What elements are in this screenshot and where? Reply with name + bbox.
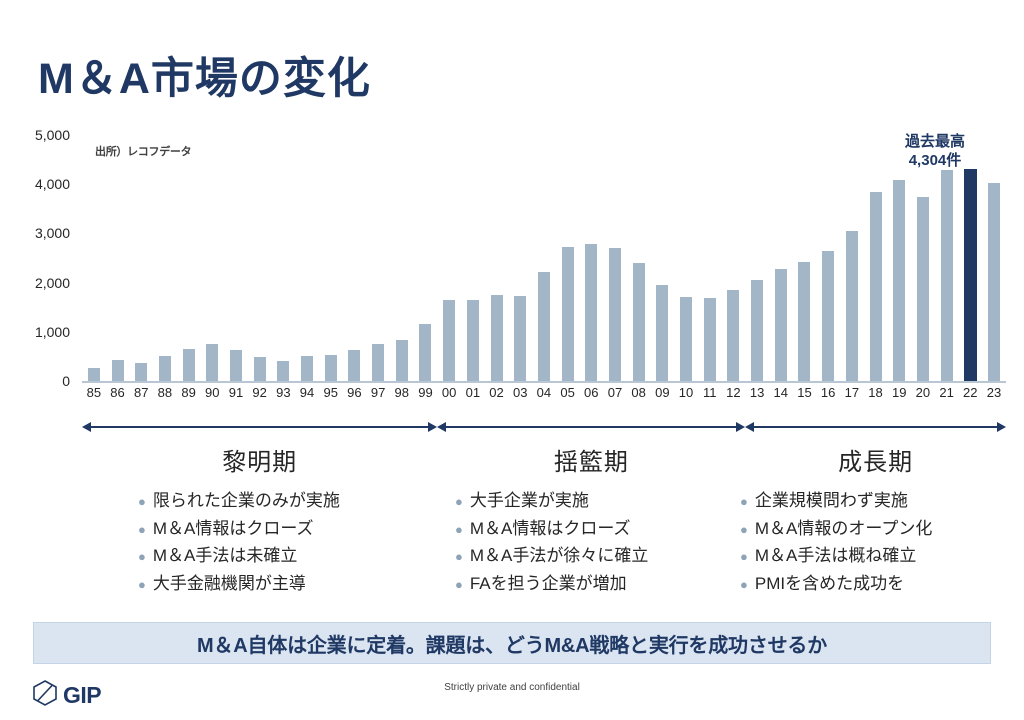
x-axis-tick: 98	[390, 385, 414, 400]
bar	[88, 368, 100, 381]
bullet-dot-icon: ●	[138, 546, 146, 567]
x-axis-tick: 96	[343, 385, 367, 400]
bar-chart: 出所）レコフデータ 5,0004,0003,0002,0001,0000 858…	[0, 135, 1024, 415]
bar-column	[864, 135, 888, 381]
x-axis-tick: 97	[366, 385, 390, 400]
bar	[893, 180, 905, 381]
x-axis-tick: 93	[272, 385, 296, 400]
bar	[751, 280, 763, 381]
bar	[680, 297, 692, 381]
bar-column	[627, 135, 651, 381]
y-axis-tick: 1,000	[0, 324, 70, 340]
list-item-label: 大手金融機関が主導	[153, 570, 306, 598]
bar-column	[177, 135, 201, 381]
list-item-label: M＆A情報はクローズ	[153, 515, 314, 543]
list-item: ●企業規模問わず実施	[740, 487, 932, 515]
bar-column	[982, 135, 1006, 381]
phase-arrow-group: 黎明期	[82, 420, 437, 478]
x-axis-tick: 23	[982, 385, 1006, 400]
x-axis-tick: 05	[556, 385, 580, 400]
y-axis-tick: 2,000	[0, 275, 70, 291]
x-axis-tick: 06	[579, 385, 603, 400]
bar	[704, 298, 716, 381]
key-message-banner: M＆A自体は企業に定着。課題は、どうM&A戦略と実行を成功させるか	[33, 622, 991, 664]
phase-arrows: 黎明期揺籃期成長期	[0, 420, 1024, 480]
phase-arrow-icon	[82, 420, 437, 434]
phase-arrow-icon	[745, 420, 1006, 434]
x-axis-tick: 92	[248, 385, 272, 400]
bar-column	[911, 135, 935, 381]
bar-column	[745, 135, 769, 381]
phase-label: 黎明期	[82, 442, 437, 477]
bar	[419, 324, 431, 382]
bar-column	[958, 135, 982, 381]
bar	[230, 350, 242, 381]
x-axis-tick: 01	[461, 385, 485, 400]
bar-column	[319, 135, 343, 381]
bar	[727, 290, 739, 381]
bar	[988, 183, 1000, 381]
bar-column	[106, 135, 130, 381]
list-item: ●M＆A手法は未確立	[138, 542, 340, 570]
x-axis-tick: 12	[722, 385, 746, 400]
x-axis-tick: 94	[295, 385, 319, 400]
phase-label: 揺籃期	[437, 442, 745, 477]
bar	[372, 344, 384, 381]
list-item-label: M＆A手法が徐々に確立	[470, 542, 649, 570]
bar	[798, 262, 810, 381]
peak-annotation: 過去最高 4,304件	[870, 133, 1000, 171]
bullet-dot-icon: ●	[740, 519, 748, 540]
bar-column	[295, 135, 319, 381]
key-message-text: M＆A自体は企業に定着。課題は、どうM&A戦略と実行を成功させるか	[197, 629, 827, 658]
confidentiality-notice: Strictly private and confidential	[0, 682, 1024, 693]
list-item: ●M＆A情報のオープン化	[740, 515, 932, 543]
bar	[514, 296, 526, 381]
bar-column	[793, 135, 817, 381]
bar-column	[343, 135, 367, 381]
x-axis: 8586878889909192939495969798990001020304…	[82, 385, 1006, 400]
list-item: ●大手企業が実施	[455, 487, 648, 515]
bullet-dot-icon: ●	[138, 491, 146, 512]
list-item: ●PMIを含めた成功を	[740, 570, 932, 598]
list-item-label: 限られた企業のみが実施	[153, 487, 340, 515]
bar-column	[82, 135, 106, 381]
bar-column	[153, 135, 177, 381]
x-axis-baseline	[82, 381, 1006, 383]
phase-label: 成長期	[745, 442, 1006, 477]
bar	[609, 248, 621, 381]
x-axis-tick: 09	[651, 385, 675, 400]
list-item-label: M＆A情報はクローズ	[470, 515, 631, 543]
x-axis-tick: 85	[82, 385, 106, 400]
list-item-label: FAを担う企業が増加	[470, 570, 627, 598]
x-axis-tick: 99	[414, 385, 438, 400]
x-axis-tick: 15	[793, 385, 817, 400]
x-axis-tick: 07	[603, 385, 627, 400]
x-axis-tick: 10	[674, 385, 698, 400]
x-axis-tick: 20	[911, 385, 935, 400]
bar	[135, 363, 147, 381]
list-item: ●限られた企業のみが実施	[138, 487, 340, 515]
bar	[775, 269, 787, 381]
list-item-label: M＆A手法は未確立	[153, 542, 298, 570]
bar-highlighted	[964, 169, 977, 381]
bar	[656, 285, 668, 381]
bullet-dot-icon: ●	[455, 546, 463, 567]
bar-column	[579, 135, 603, 381]
peak-annotation-line1: 過去最高	[870, 133, 1000, 152]
x-axis-tick: 87	[129, 385, 153, 400]
bar	[870, 192, 882, 381]
phase-bullet-columns: ●限られた企業のみが実施●M＆A情報はクローズ●M＆A手法は未確立●大手金融機関…	[0, 487, 1024, 607]
bullet-dot-icon: ●	[138, 519, 146, 540]
bar-column	[224, 135, 248, 381]
bar-column	[603, 135, 627, 381]
bullet-column: ●企業規模問わず実施●M＆A情報のオープン化●M＆A手法は概ね確立●PMIを含め…	[740, 487, 932, 597]
slide: M＆A市場の変化 出所）レコフデータ 5,0004,0003,0002,0001…	[0, 0, 1024, 720]
bar	[277, 361, 289, 381]
chart-plot-area	[82, 135, 1006, 381]
bar	[443, 300, 455, 381]
bar-column	[935, 135, 959, 381]
x-axis-tick: 08	[627, 385, 651, 400]
bar-column	[508, 135, 532, 381]
list-item-label: 大手企業が実施	[470, 487, 589, 515]
bar	[846, 231, 858, 381]
bar	[348, 350, 360, 381]
bar	[491, 295, 503, 381]
x-axis-tick: 00	[437, 385, 461, 400]
list-item: ●FAを担う企業が増加	[455, 570, 648, 598]
x-axis-tick: 91	[224, 385, 248, 400]
phase-arrow-group: 揺籃期	[437, 420, 745, 478]
bar	[206, 344, 218, 381]
x-axis-tick: 88	[153, 385, 177, 400]
x-axis-tick: 17	[840, 385, 864, 400]
x-axis-tick: 86	[106, 385, 130, 400]
bullet-column: ●大手企業が実施●M＆A情報はクローズ●M＆A手法が徐々に確立●FAを担う企業が…	[455, 487, 648, 597]
x-axis-tick: 14	[769, 385, 793, 400]
bar-column	[414, 135, 438, 381]
x-axis-tick: 90	[200, 385, 224, 400]
x-axis-tick: 11	[698, 385, 722, 400]
x-axis-tick: 16	[816, 385, 840, 400]
x-axis-tick: 03	[508, 385, 532, 400]
list-item-label: M＆A手法は概ね確立	[755, 542, 917, 570]
phase-arrow-group: 成長期	[745, 420, 1006, 478]
bar	[822, 251, 834, 381]
x-axis-tick: 13	[745, 385, 769, 400]
bar-column	[485, 135, 509, 381]
list-item: ●M＆A情報はクローズ	[455, 515, 648, 543]
bar	[585, 244, 597, 381]
bar-column	[461, 135, 485, 381]
bullet-dot-icon: ●	[740, 546, 748, 567]
bar-column	[390, 135, 414, 381]
list-item-label: PMIを含めた成功を	[755, 570, 904, 598]
peak-annotation-line2: 4,304件	[870, 152, 1000, 171]
list-item: ●M＆A情報はクローズ	[138, 515, 340, 543]
bar-column	[248, 135, 272, 381]
list-item: ●大手金融機関が主導	[138, 570, 340, 598]
bar-column	[272, 135, 296, 381]
bar	[301, 356, 313, 381]
x-axis-tick: 89	[177, 385, 201, 400]
bar-column	[769, 135, 793, 381]
list-item: ●M＆A手法が徐々に確立	[455, 542, 648, 570]
footer: GIP Strictly private and confidential	[0, 672, 1024, 720]
y-axis-tick: 4,000	[0, 176, 70, 192]
bar	[183, 349, 195, 381]
bar	[941, 170, 953, 381]
bar-column	[722, 135, 746, 381]
bar	[538, 272, 550, 381]
page-title: M＆A市場の変化	[38, 44, 371, 106]
y-axis-tick: 5,000	[0, 127, 70, 143]
bar-column	[556, 135, 580, 381]
bar-column	[840, 135, 864, 381]
x-axis-tick: 22	[958, 385, 982, 400]
bar-column	[366, 135, 390, 381]
bar-column	[129, 135, 153, 381]
bullet-dot-icon: ●	[455, 574, 463, 595]
bullet-dot-icon: ●	[740, 574, 748, 595]
bar-column	[532, 135, 556, 381]
y-axis-tick: 3,000	[0, 225, 70, 241]
bullet-dot-icon: ●	[455, 519, 463, 540]
x-axis-tick: 04	[532, 385, 556, 400]
x-axis-tick: 21	[935, 385, 959, 400]
x-axis-tick: 19	[887, 385, 911, 400]
bar	[254, 357, 266, 381]
list-item-label: 企業規模問わず実施	[755, 487, 908, 515]
bar	[159, 356, 171, 381]
bar	[396, 340, 408, 381]
bar-column	[674, 135, 698, 381]
y-axis-tick: 0	[0, 373, 70, 389]
list-item-label: M＆A情報のオープン化	[755, 515, 932, 543]
bullet-dot-icon: ●	[138, 574, 146, 595]
x-axis-tick: 95	[319, 385, 343, 400]
bar-column	[437, 135, 461, 381]
bar	[633, 263, 645, 381]
x-axis-tick: 02	[485, 385, 509, 400]
phase-arrow-icon	[437, 420, 745, 434]
y-axis: 5,0004,0003,0002,0001,0000	[0, 135, 78, 381]
bar	[112, 360, 124, 381]
bar	[562, 247, 574, 381]
x-axis-tick: 18	[864, 385, 888, 400]
bar	[325, 355, 337, 381]
bar-column	[698, 135, 722, 381]
bar-column	[200, 135, 224, 381]
bullet-column: ●限られた企業のみが実施●M＆A情報はクローズ●M＆A手法は未確立●大手金融機関…	[138, 487, 340, 597]
bar-column	[816, 135, 840, 381]
bar	[917, 197, 929, 381]
bar	[467, 300, 479, 381]
bar-column	[887, 135, 911, 381]
bullet-dot-icon: ●	[740, 491, 748, 512]
list-item: ●M＆A手法は概ね確立	[740, 542, 932, 570]
bar-column	[651, 135, 675, 381]
bullet-dot-icon: ●	[455, 491, 463, 512]
